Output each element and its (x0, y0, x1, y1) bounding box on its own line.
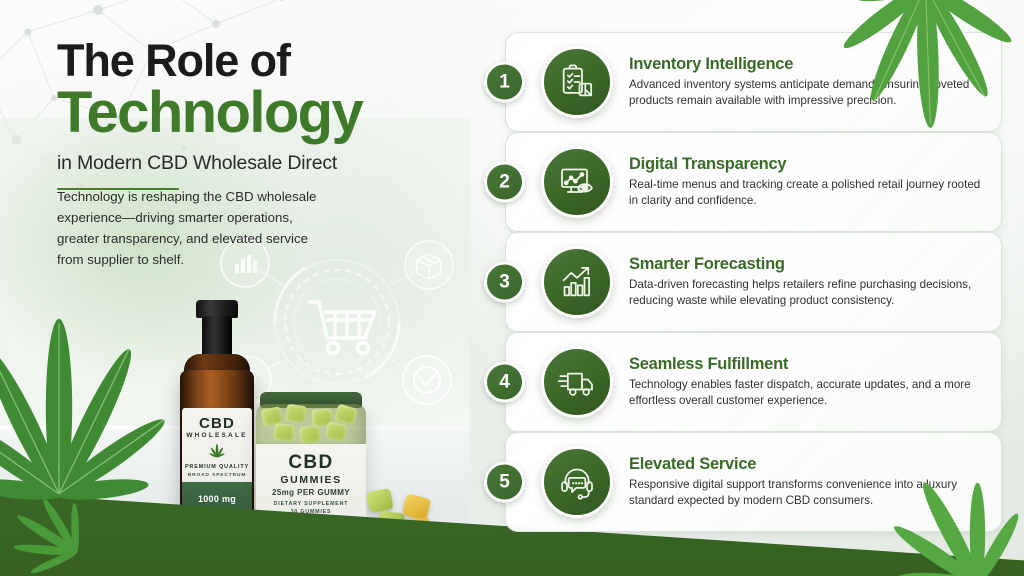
intro-paragraph: Technology is reshaping the CBD wholesal… (57, 186, 329, 270)
item-title: Seamless Fulfillment (629, 355, 985, 374)
tincture-spectrum: BROAD SPECTRUM (182, 474, 252, 479)
list-item[interactable]: 3 Smarter Forecasting Data-driven foreca… (505, 232, 1002, 332)
gummies-strength: 25mg PER GUMMY (256, 489, 366, 497)
tincture-label: CBD WHOLESALE PREMIUM QUALITY BROAD SPEC… (182, 408, 252, 524)
cbd-tincture-bottle: CBD WHOLESALE PREMIUM QUALITY BROAD SPEC… (168, 300, 266, 552)
gummies-count: 30 GUMMIES (256, 510, 366, 515)
item-description: Data-driven forecasting helps retailers … (629, 277, 985, 310)
delivery-truck-icon (541, 346, 613, 418)
headset-support-chat-icon (541, 446, 613, 518)
item-title: Inventory Intelligence (629, 55, 985, 74)
item-title: Smarter Forecasting (629, 255, 985, 274)
item-number-badge: 1 (484, 62, 525, 103)
item-title: Elevated Service (629, 455, 985, 474)
item-title: Digital Transparency (629, 155, 985, 174)
headline-subtitle: in Modern CBD Wholesale Direct (57, 152, 457, 175)
list-item[interactable]: 2 Digital Transparency Real-time menus a… (505, 132, 1002, 232)
item-description: Responsive digital support transforms co… (629, 477, 985, 510)
tincture-brand: CBD (182, 416, 252, 431)
loose-gummy (377, 510, 405, 535)
item-number-badge: 2 (484, 162, 525, 203)
cannabis-leaf-icon (182, 442, 252, 462)
item-number-badge: 3 (484, 262, 525, 303)
cannabis-leaf-icon (0, 296, 184, 536)
tincture-quality: PREMIUM QUALITY (182, 465, 252, 470)
gummies-subbrand: GUMMIES (256, 475, 366, 486)
item-description: Technology enables faster dispatch, accu… (629, 377, 985, 410)
item-description: Real-time menus and tracking create a po… (629, 177, 985, 210)
bar-chart-growth-arrow-icon (541, 246, 613, 318)
monitor-chart-eye-icon (541, 146, 613, 218)
list-item[interactable]: 1 Inventory Intelligence Advanced invent… (505, 32, 1002, 132)
item-description: Advanced inventory systems anticipate de… (629, 77, 985, 110)
package-box-icon (405, 241, 453, 289)
tincture-subbrand: WHOLESALE (182, 433, 252, 440)
gummies-category: DIETARY SUPPLEMENT (256, 502, 366, 507)
clipboard-checklist-icon (541, 46, 613, 118)
tincture-strength: 1000 mg (182, 495, 252, 504)
loose-gummy (366, 488, 393, 513)
item-number-badge: 5 (484, 462, 525, 503)
gummies-label: CBD GUMMIES 25mg PER GUMMY DIETARY SUPPL… (256, 444, 366, 520)
shopping-cart-icon (309, 302, 375, 354)
loose-gummy (402, 493, 432, 520)
tincture-volume: 1 FL OZ (30 mL) (182, 510, 252, 515)
cannabis-leaf-icon (34, 470, 184, 576)
list-item[interactable]: 4 Seamless Fulfillment Technology enable… (505, 332, 1002, 432)
cbd-gummies-jar: CBD GUMMIES 25mg PER GUMMY DIETARY SUPPL… (256, 392, 366, 552)
loose-gummy (407, 517, 431, 539)
infographic-canvas: CBD WHOLESALE PREMIUM QUALITY BROAD SPEC… (0, 0, 1024, 576)
check-circle-icon (403, 356, 451, 404)
list-item[interactable]: 5 Elevated Service Responsive digital su… (505, 432, 1002, 532)
gummies-brand: CBD (256, 453, 366, 472)
feature-list: 1 Inventory Intelligence Advanced invent… (505, 32, 1002, 532)
item-number-badge: 4 (484, 362, 525, 403)
headline-line-2: Technology (57, 83, 457, 142)
page-title: The Role of Technology in Modern CBD Who… (57, 38, 457, 190)
headline-line-1: The Role of (57, 38, 457, 85)
